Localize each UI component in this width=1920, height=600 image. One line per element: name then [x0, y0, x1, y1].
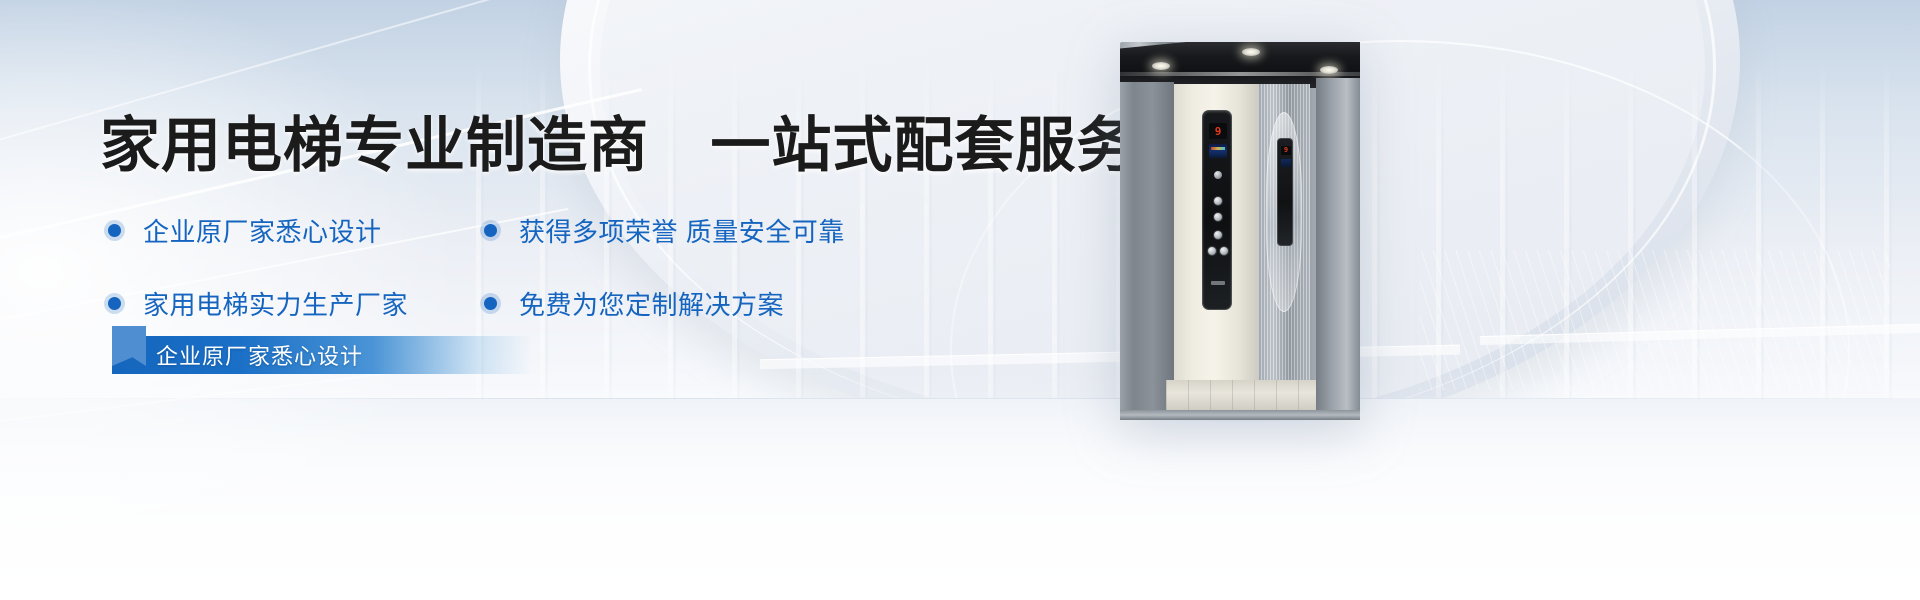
bridge-cables: [1420, 250, 1890, 390]
elevator-base-sill: [1120, 410, 1360, 420]
floor-button[interactable]: [1214, 213, 1222, 221]
door-open-button[interactable]: [1208, 247, 1216, 255]
feature-label: 家用电梯实力生产厂家: [143, 285, 408, 322]
feature-item-3: 家用电梯实力生产厂家: [108, 285, 468, 322]
floor-indicator-display: 9: [1209, 123, 1227, 139]
elevator-product-image: 9 9: [1120, 42, 1360, 412]
bullet-dot-icon: [108, 297, 121, 310]
floor-number: 9: [1215, 126, 1222, 137]
ribbon-label: 企业原厂家悉心设计: [156, 336, 363, 374]
headline-part-2: 一站式配套服务: [710, 112, 1137, 179]
floor-button[interactable]: [1214, 231, 1222, 239]
promo-banner: 家用电梯专业制造商 一站式配套服务 企业原厂家悉心设计 获得多项荣誉 质量安全可…: [0, 0, 1920, 600]
feature-label: 企业原厂家悉心设计: [143, 212, 382, 249]
ceiling-spotlight-icon: [1152, 62, 1170, 70]
control-panel-lcd-screen: [1209, 144, 1227, 158]
elevator-right-pillar: [1316, 78, 1360, 412]
secondary-floor-indicator-display: 9: [1281, 146, 1291, 155]
bullet-dot-icon: [484, 224, 497, 237]
elevator-cab-floor: [1166, 380, 1316, 412]
door-close-button[interactable]: [1220, 247, 1228, 255]
feature-list: 企业原厂家悉心设计 获得多项荣誉 质量安全可靠 家用电梯实力生产厂家 免费为您定…: [108, 212, 845, 322]
control-panel-knob: [1214, 171, 1222, 179]
elevator-control-panel: 9: [1202, 110, 1232, 310]
feature-label: 免费为您定制解决方案: [519, 285, 784, 322]
cab-floor-tiles: [1166, 380, 1316, 412]
ceiling-spotlight-icon: [1320, 66, 1338, 74]
secondary-lcd-screen: [1281, 159, 1291, 167]
highlight-ribbon: 企业原厂家悉心设计: [112, 336, 532, 374]
floor-button[interactable]: [1214, 197, 1222, 205]
control-panel-brand-mark: [1211, 281, 1225, 285]
elevator-left-pillar: [1120, 82, 1174, 412]
feature-item-1: 企业原厂家悉心设计: [108, 212, 468, 249]
bullet-dot-icon: [108, 224, 121, 237]
banner-headline: 家用电梯专业制造商 一站式配套服务: [100, 112, 1137, 179]
feature-item-4: 免费为您定制解决方案: [484, 285, 845, 322]
feature-label: 获得多项荣誉 质量安全可靠: [519, 212, 845, 249]
headline-part-1: 家用电梯专业制造商: [100, 112, 649, 179]
bottom-fade-overlay: [0, 370, 1920, 600]
feature-item-2: 获得多项荣誉 质量安全可靠: [484, 212, 845, 249]
secondary-floor-number: 9: [1284, 147, 1288, 154]
bullet-dot-icon: [484, 297, 497, 310]
ceiling-spotlight-icon: [1242, 48, 1260, 56]
elevator-secondary-control-panel: 9: [1277, 138, 1293, 246]
